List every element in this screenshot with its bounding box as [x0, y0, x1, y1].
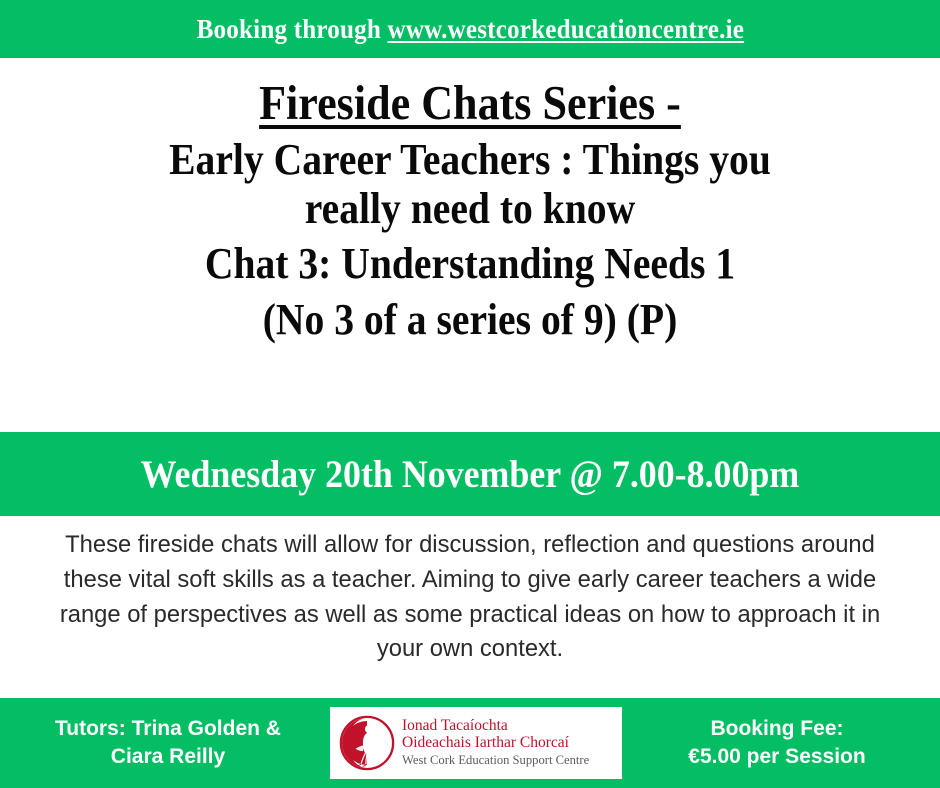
tutors-line-2: Ciara Reilly — [6, 743, 330, 771]
title-line-4: Chat 3: Understanding Needs 1 — [65, 239, 875, 288]
booking-url-link[interactable]: www.westcorkeducationcentre.ie — [387, 14, 744, 44]
booking-prefix: Booking through — [196, 14, 387, 44]
logo-wordmark: Ionad Tacaíochta Oideachais Iarthar Chor… — [402, 718, 589, 767]
logo-irish-line-1: Ionad Tacaíochta — [402, 718, 589, 735]
booking-fee-amount: €5.00 per Session — [622, 743, 932, 771]
west-cork-education-centre-logo: Ionad Tacaíochta Oideachais Iarthar Chor… — [330, 707, 622, 779]
title-line-2: Early Career Teachers : Things you — [65, 135, 875, 184]
booking-fee-label: Booking Fee: — [622, 715, 932, 743]
title-line-1-text: Fireside Chats Series - — [259, 75, 681, 130]
booking-fee-block: Booking Fee: €5.00 per Session — [622, 715, 940, 770]
title-line-3: really need to know — [65, 184, 875, 233]
description-text: These fireside chats will allow for disc… — [14, 528, 926, 667]
footer-band: Tutors: Trina Golden & Ciara Reilly — [0, 698, 940, 788]
date-time-text: Wednesday 20th November @ 7.00-8.00pm — [141, 452, 800, 497]
circle-figure-emblem-icon — [338, 714, 396, 772]
title-line-5: (No 3 of a series of 9) (P) — [65, 295, 875, 344]
tutors-block: Tutors: Trina Golden & Ciara Reilly — [0, 715, 330, 770]
logo-irish-line-2: Oideachais Iarthar Chorcaí — [402, 735, 589, 752]
booking-through-text: Booking through www.westcorkeducationcen… — [196, 14, 743, 45]
tutors-line-1: Tutors: Trina Golden & — [6, 715, 330, 743]
poster-root: Booking through www.westcorkeducationcen… — [0, 0, 940, 788]
booking-band: Booking through www.westcorkeducationcen… — [0, 0, 940, 58]
date-time-band: Wednesday 20th November @ 7.00-8.00pm — [0, 432, 940, 516]
title-line-1: Fireside Chats Series - — [65, 76, 875, 131]
logo-container: Ionad Tacaíochta Oideachais Iarthar Chor… — [330, 707, 622, 779]
logo-english-line: West Cork Education Support Centre — [402, 754, 589, 768]
page-title: Fireside Chats Series - Early Career Tea… — [0, 58, 940, 350]
